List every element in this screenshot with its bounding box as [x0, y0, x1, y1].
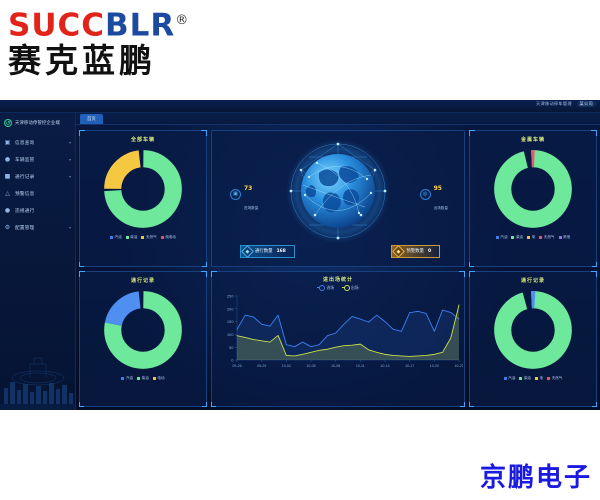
list-icon: ■ — [4, 173, 11, 180]
svg-text:10-05: 10-05 — [306, 364, 315, 368]
svg-text:10-02: 10-02 — [282, 364, 291, 368]
refresh-icon: ↺ — [4, 119, 12, 127]
donut-chart-pass-records-right — [470, 284, 596, 376]
badge-value: 0 — [428, 249, 431, 254]
line-chart-canvas: 05010015020025009-2609-2910-0210-0510-08… — [213, 292, 463, 372]
legend-label: 电动 — [157, 376, 164, 381]
screenshot-root: SUCCBLR® 赛克蓝鹏 天津移动停车管理 某公司 ↺ 天津移动停管控企业端 … — [0, 0, 600, 500]
tab-bar: 首页 — [76, 113, 600, 125]
panel-globe-overview: ▣ 73 进场数量 ◎ 95 出场数量 — [211, 130, 465, 267]
sidebar-item-label: 车辆监管 — [15, 157, 35, 163]
sidebar-item-violations[interactable]: ● 违规通行 — [0, 202, 75, 219]
sidebar-menu: ▣ 信息查询 ▾ ● 车辆监管 ▾ ■ 通行记录 ▾ △ 预警信息 — [0, 134, 75, 236]
svg-text:10-23: 10-23 — [454, 364, 463, 368]
sidebar-item-vehicle-supervision[interactable]: ● 车辆监管 ▾ — [0, 151, 75, 168]
badge-pass-count: ◆ 通行数量 168 — [240, 245, 295, 258]
svg-text:10-20: 10-20 — [430, 364, 439, 368]
car-icon: ● — [4, 156, 11, 163]
legend: 汽油 柴油 天然气 纯电动 — [80, 235, 206, 243]
panel-title: 通行记录 — [80, 272, 206, 284]
svg-text:200: 200 — [227, 306, 234, 311]
sidebar-item-label: 预警信息 — [15, 191, 35, 197]
badge-label: 预警数量 — [406, 248, 424, 254]
legend-label: 电 — [532, 235, 536, 240]
badge-value: 168 — [277, 249, 286, 254]
legend-label: 汽油 — [500, 235, 507, 240]
badge-label: 通行数量 — [255, 248, 273, 254]
sidebar-item-pass-records[interactable]: ■ 通行记录 ▾ — [0, 168, 75, 185]
sidebar-item-label: 通行记录 — [15, 174, 35, 180]
bell-icon: △ — [4, 190, 11, 197]
chevron-down-icon: ▾ — [69, 157, 71, 162]
legend-label: 汽油 — [126, 376, 133, 381]
legend-label: 天然气 — [146, 235, 157, 240]
sidebar-item-info-query[interactable]: ▣ 信息查询 ▾ — [0, 134, 75, 151]
legend-item-exit[interactable]: 出场 — [342, 285, 359, 291]
legend-item: 柴油 — [137, 376, 149, 381]
svg-text:10-11: 10-11 — [356, 364, 365, 368]
legend-item: 电动 — [153, 376, 165, 381]
sidebar-header: ↺ 天津移动停管控企业端 — [0, 116, 75, 130]
panel-all-vehicles: 全部车辆 汽油 柴油 天然气 纯电动 — [79, 130, 207, 267]
brand-latin-wordmark: SUCCBLR® — [8, 4, 268, 42]
legend-label: 纯电动 — [165, 235, 176, 240]
panel-metal-vehicles: 金属车辆 汽油 柴油 电 天然气 其他 — [469, 130, 597, 267]
legend-item: 天然气 — [547, 376, 562, 381]
svg-text:250: 250 — [227, 293, 234, 298]
sidebar-city-decoration — [0, 338, 76, 410]
legend-item: 汽油 — [121, 376, 133, 381]
legend-label: 天然气 — [552, 376, 563, 381]
brand-latin-second: BLR — [105, 7, 175, 43]
panel-title: 全部车辆 — [80, 131, 206, 143]
tab-home[interactable]: 首页 — [80, 114, 103, 124]
legend-item: 纯电动 — [161, 235, 176, 240]
sidebar-title: 天津移动停管控企业端 — [15, 120, 60, 126]
footer-watermark: 京鹏电子 — [480, 457, 592, 494]
legend-label: 其他 — [563, 235, 570, 240]
legend-item: 汽油 — [496, 235, 508, 240]
sidebar: ↺ 天津移动停管控企业端 ▣ 信息查询 ▾ ● 车辆监管 ▾ ■ 通行记录 ▾ — [0, 113, 76, 410]
donut-chart-pass-records-left — [80, 284, 206, 376]
legend-label: 柴油 — [142, 376, 149, 381]
chart-legend: 进场 出场 — [212, 283, 464, 291]
stat-entry-count: ▣ 73 进场数量 — [230, 175, 258, 213]
brand-header: SUCCBLR® 赛克蓝鹏 — [8, 4, 268, 96]
svg-text:09-26: 09-26 — [232, 364, 241, 368]
sidebar-item-label: 违规通行 — [15, 208, 35, 214]
legend-item: 电 — [527, 235, 535, 240]
chart-title: 进出场统计 — [212, 272, 464, 283]
dashboard-content: 首页 全部车辆 汽油 柴油 天然气 — [76, 113, 600, 410]
legend-label: 柴油 — [524, 376, 531, 381]
sidebar-item-alerts[interactable]: △ 预警信息 — [0, 185, 75, 202]
topbar-user-text: 天津移动停车管理 — [536, 101, 572, 106]
svg-text:10-14: 10-14 — [380, 364, 389, 368]
car-out-icon: ◎ — [420, 189, 431, 200]
sidebar-item-label: 配置管理 — [15, 225, 35, 231]
legend-item-entry[interactable]: 进场 — [317, 285, 334, 291]
svg-text:50: 50 — [229, 344, 234, 349]
svg-text:10-17: 10-17 — [405, 364, 414, 368]
legend-item: 电 — [535, 376, 543, 381]
legend-item: 柴油 — [126, 235, 138, 240]
stat-value: 73 — [244, 185, 252, 192]
stat-caption: 进场数量 — [244, 206, 258, 210]
panel-title: 金属车辆 — [470, 131, 596, 143]
legend-item: 天然气 — [141, 235, 156, 240]
legend: 汽油 柴油 电 天然气 其他 — [470, 235, 596, 243]
legend-item: 其他 — [559, 235, 571, 240]
panel-pass-records-right: 通行记录 汽油 柴油 电 天然气 — [469, 271, 597, 408]
panel-entry-exit-statistics: 进出场统计 进场 出场 05010015020025009-2609-2910-… — [211, 271, 465, 408]
warning-icon: ● — [4, 207, 11, 214]
legend-label: 柴油 — [130, 235, 137, 240]
dashboard-topbar: 天津移动停车管理 某公司 — [0, 100, 600, 113]
topbar-user-area[interactable]: 天津移动停车管理 某公司 — [536, 101, 596, 107]
badge-alert-count: ◆ 预警数量 0 — [391, 245, 440, 258]
brand-chinese-name: 赛克蓝鹏 — [8, 42, 268, 80]
brand-latin-first: SUCC — [8, 7, 105, 43]
legend-label: 汽油 — [508, 376, 515, 381]
sidebar-item-config[interactable]: ⚙ 配置管理 ▾ — [0, 219, 75, 236]
svg-text:10-08: 10-08 — [331, 364, 340, 368]
legend: 汽油 柴油 电动 — [80, 376, 206, 384]
legend-label: 电 — [540, 376, 544, 381]
legend-label: 柴油 — [516, 235, 523, 240]
diamond-icon: ◆ — [392, 245, 405, 258]
car-in-icon: ▣ — [230, 189, 241, 200]
chevron-down-icon: ▾ — [69, 174, 71, 179]
svg-text:09-29: 09-29 — [257, 364, 266, 368]
chevron-down-icon: ▾ — [69, 140, 71, 145]
gear-icon: ⚙ — [4, 224, 11, 231]
svg-text:0: 0 — [231, 357, 234, 362]
legend-item: 汽油 — [110, 235, 122, 240]
globe-visualization — [279, 137, 397, 249]
stat-exit-count: ◎ 95 出场数量 — [420, 175, 448, 213]
stat-value: 95 — [434, 185, 442, 192]
dashboard-grid: 全部车辆 汽油 柴油 天然气 纯电动 — [76, 127, 600, 410]
diamond-icon: ◆ — [241, 245, 254, 258]
legend-label: 汽油 — [115, 235, 122, 240]
legend-item: 汽油 — [504, 376, 516, 381]
donut-chart-all-vehicles — [80, 143, 206, 235]
topbar-company-pill[interactable]: 某公司 — [577, 101, 596, 107]
legend-label: 天然气 — [544, 235, 555, 240]
legend-label: 进场 — [326, 285, 334, 291]
registered-trademark-icon: ® — [175, 13, 189, 28]
panel-pass-records-left: 通行记录 汽油 柴油 电动 — [79, 271, 207, 408]
legend-item: 天然气 — [539, 235, 554, 240]
folder-icon: ▣ — [4, 139, 11, 146]
donut-chart-metal-vehicles — [470, 143, 596, 235]
svg-text:150: 150 — [227, 319, 234, 324]
svg-text:100: 100 — [227, 332, 234, 337]
chevron-down-icon: ▾ — [69, 225, 71, 230]
panel-title: 通行记录 — [470, 272, 596, 284]
legend-item: 柴油 — [519, 376, 531, 381]
stat-caption: 出场数量 — [434, 206, 448, 210]
legend: 汽油 柴油 电 天然气 — [470, 376, 596, 384]
dashboard-screen: 天津移动停车管理 某公司 ↺ 天津移动停管控企业端 ▣ 信息查询 ▾ ● 车辆监… — [0, 100, 600, 410]
sidebar-item-label: 信息查询 — [15, 140, 35, 146]
legend-item: 柴油 — [511, 235, 523, 240]
legend-label: 出场 — [351, 285, 359, 291]
